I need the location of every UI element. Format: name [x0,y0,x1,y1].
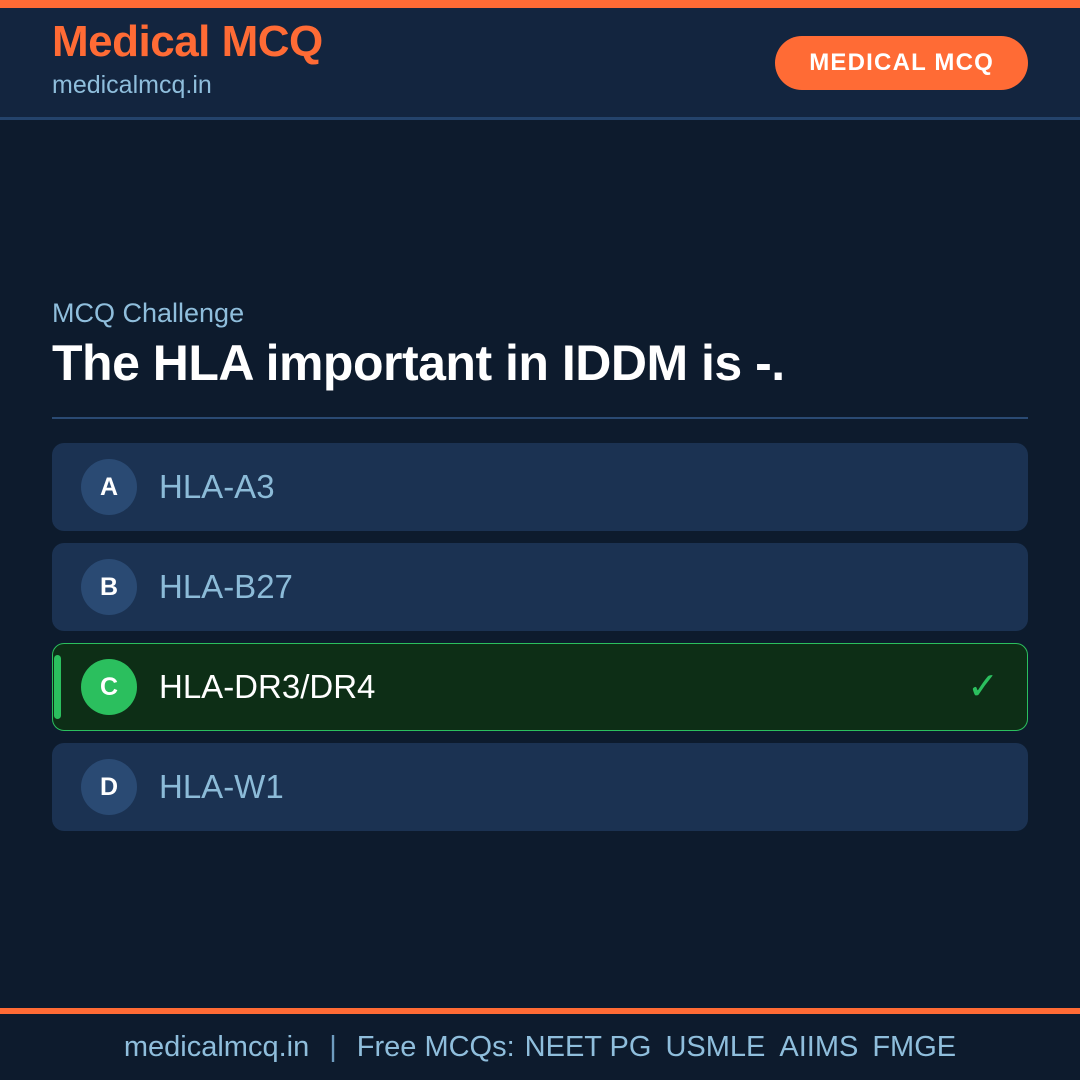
brand-subtitle: medicalmcq.in [52,68,323,103]
eyebrow-label: MCQ Challenge [52,297,1028,329]
option-label: HLA-B27 [159,567,999,607]
option-label: HLA-DR3/DR4 [159,667,955,707]
footer-bar: medicalmcq.in | Free MCQs: NEET PG USMLE… [0,1014,1080,1080]
question-divider [52,417,1028,419]
option-label: HLA-A3 [159,467,999,507]
footer-tag-fmge[interactable]: FMGE [872,1033,956,1062]
header-badge[interactable]: MEDICAL MCQ [775,36,1028,90]
main-content: MCQ Challenge The HLA important in IDDM … [0,120,1080,1008]
check-icon: ✓ [967,668,999,706]
brand-block: Medical MCQ medicalmcq.in [52,20,323,103]
option-row-a[interactable]: A HLA-A3 ✓ [52,443,1028,531]
page-header: Medical MCQ medicalmcq.in MEDICAL MCQ [0,8,1080,120]
top-accent-bar [0,0,1080,8]
footer-tag-usmle[interactable]: USMLE [665,1033,765,1062]
option-letter-badge: D [81,759,137,815]
option-label: HLA-W1 [159,767,999,807]
page-footer: medicalmcq.in | Free MCQs: NEET PG USMLE… [0,1008,1080,1080]
question-text: The HLA important in IDDM is -. [52,335,1028,391]
footer-tag-aiims[interactable]: AIIMS [779,1033,858,1062]
option-row-d[interactable]: D HLA-W1 ✓ [52,743,1028,831]
brand-title: Medical MCQ [52,20,323,64]
option-letter-badge: B [81,559,137,615]
footer-label: Free MCQs: [357,1033,515,1062]
footer-site-link[interactable]: medicalmcq.in [124,1033,309,1062]
footer-separator: | [329,1033,337,1062]
option-letter-badge: C [81,659,137,715]
option-letter-badge: A [81,459,137,515]
option-row-c[interactable]: C HLA-DR3/DR4 ✓ [52,643,1028,731]
option-row-b[interactable]: B HLA-B27 ✓ [52,543,1028,631]
correct-accent-bar [54,655,61,719]
options-list: A HLA-A3 ✓ B HLA-B27 ✓ C HLA-DR3/DR4 ✓ D… [52,443,1028,831]
footer-tag-neetpg[interactable]: NEET PG [525,1033,652,1062]
